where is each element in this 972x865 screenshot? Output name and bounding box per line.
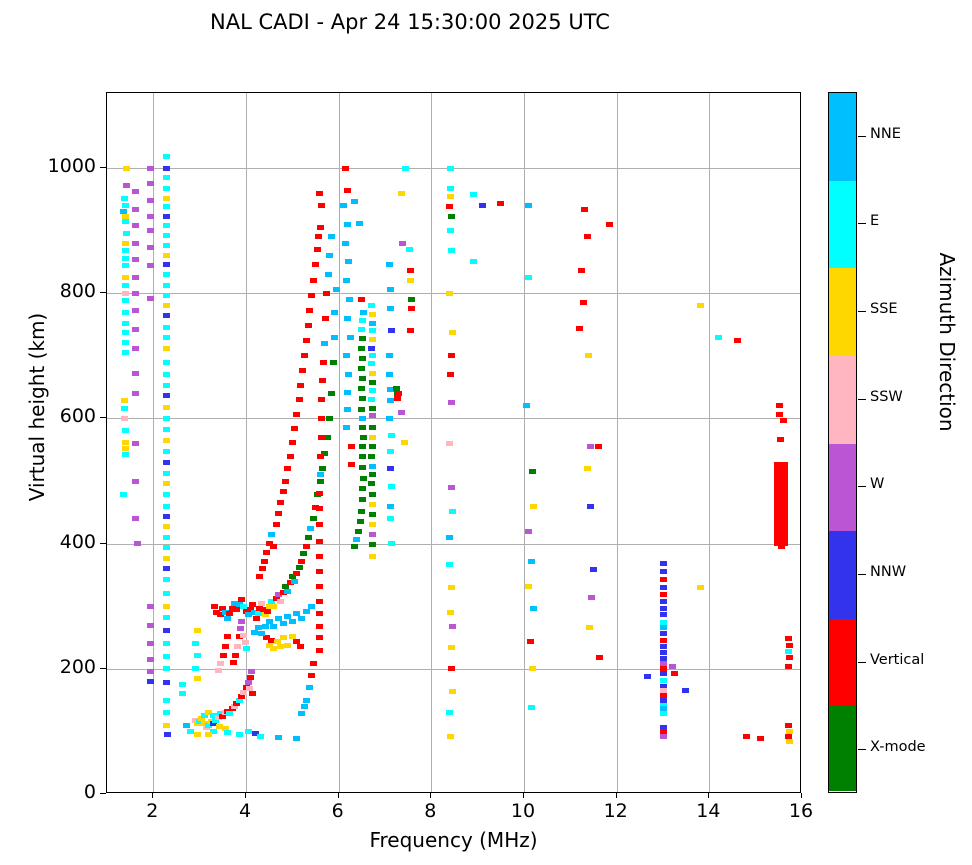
echo-marker [293,412,300,417]
echo-marker [359,376,366,381]
echo-marker [301,704,308,709]
echo-marker [587,504,594,509]
echo-marker [194,653,201,658]
echo-marker [399,241,406,246]
echo-marker [359,318,366,323]
colorbar-segment-sse [829,268,856,356]
echo-marker [245,680,252,685]
echo-marker [132,327,139,332]
echo-marker [386,262,393,267]
echo-marker [319,378,326,383]
x-axis-label: Frequency (MHz) [106,828,801,852]
echo-marker [757,736,764,741]
echo-marker [122,263,129,268]
echo-marker [470,192,477,197]
echo-marker [407,328,414,333]
echo-marker [314,247,321,252]
echo-marker [270,604,277,609]
echo-marker [248,669,255,674]
echo-marker [330,360,337,365]
echo-marker [134,541,141,546]
echo-marker [528,705,535,710]
echo-marker [530,606,537,611]
echo-marker [353,537,360,542]
echo-marker [398,191,405,196]
echo-marker [369,413,376,418]
echo-marker [590,567,597,572]
echo-marker [306,308,313,313]
echo-marker [238,619,245,624]
echo-marker [163,680,170,685]
echo-marker [318,416,325,421]
echo-marker [163,313,170,318]
echo-marker [122,241,129,246]
echo-marker [132,207,139,212]
echo-marker [447,166,454,171]
echo-marker [163,262,170,267]
echo-marker [786,739,793,744]
echo-marker [449,624,456,629]
echo-marker [293,736,300,741]
echo-marker [587,444,594,449]
echo-marker [369,444,376,449]
echo-marker [287,454,294,459]
echo-marker [297,383,304,388]
echo-marker [408,306,415,311]
page-title: NAL CADI - Apr 24 15:30:00 2025 UTC [0,10,820,34]
echo-marker [660,631,667,636]
echo-marker [163,393,170,398]
echo-marker [343,425,350,430]
echo-marker [369,353,376,358]
echo-marker [697,585,704,590]
echo-marker [251,630,258,635]
colorbar-tick [858,486,866,487]
echo-marker [275,511,282,516]
colorbar-tick [858,223,866,224]
echo-marker [192,666,199,671]
echo-marker [346,297,353,302]
echo-marker [163,243,170,248]
echo-marker [147,198,154,203]
echo-marker [194,628,201,633]
echo-marker [297,644,304,649]
echo-marker [284,643,291,648]
echo-marker [449,330,456,335]
echo-marker [258,601,265,606]
echo-marker [345,259,352,264]
echo-marker [310,661,317,666]
echo-marker [358,386,365,391]
echo-marker [122,446,129,451]
echo-marker [368,303,375,308]
echo-marker [163,383,170,388]
echo-marker [257,734,264,739]
echo-marker [386,416,393,421]
echo-marker [368,361,375,366]
colorbar-segment-nne [829,93,856,181]
echo-marker [316,191,323,196]
echo-marker [369,502,376,507]
y-tick-label: 1000 [34,155,96,177]
echo-marker [163,416,170,421]
colorbar-segment-w [829,444,856,532]
echo-marker [785,664,792,669]
echo-marker [777,437,784,442]
echo-marker [123,231,130,236]
colorbar-label-sse: SSE [870,301,898,317]
echo-marker [122,248,129,253]
echo-marker [163,591,170,596]
echo-marker [238,694,245,699]
echo-marker [448,353,455,358]
echo-marker [261,559,268,564]
echo-marker [331,335,338,340]
echo-marker [360,476,367,481]
echo-marker [318,397,325,402]
echo-marker [408,297,415,302]
plot-area [106,92,801,793]
echo-marker [122,428,129,433]
echo-marker [147,214,154,219]
echo-marker [355,529,362,534]
echo-marker [333,287,340,292]
colorbar-label-e: E [870,213,879,229]
echo-marker [407,278,414,283]
echo-marker [194,676,201,681]
echo-marker [325,272,332,277]
echo-marker [448,666,455,671]
echo-marker [369,380,376,385]
echo-marker [351,544,358,549]
echo-marker [205,732,212,737]
echo-marker [132,479,139,484]
echo-marker [359,396,366,401]
echo-marker [147,263,154,268]
echo-marker [132,516,139,521]
echo-marker [163,535,170,540]
echo-marker [369,312,376,317]
echo-marker [359,486,366,491]
echo-marker [401,440,408,445]
x-tick-label: 16 [771,800,831,822]
echo-marker [163,303,170,308]
echo-marker [358,297,365,302]
echo-marker [249,691,256,696]
echo-marker [163,545,170,550]
echo-marker [523,403,530,408]
y-tick-mark [100,417,106,418]
echo-marker [121,196,128,201]
echo-marker [121,406,128,411]
echo-marker [298,559,305,564]
echo-marker [308,604,315,609]
echo-marker [164,732,171,737]
echo-marker [163,615,170,620]
echo-marker [595,444,602,449]
echo-marker [388,541,395,546]
echo-marker [360,310,367,315]
echo-marker [682,688,689,693]
echo-marker [660,585,667,590]
echo-marker [147,657,154,662]
echo-marker [163,514,170,519]
echo-marker [163,427,170,432]
echo-marker [660,644,667,649]
echo-marker [264,609,271,614]
echo-marker [132,223,139,228]
colorbar [828,92,857,793]
y-axis-label: Virtual height (km) [25,277,49,537]
echo-marker [147,166,154,171]
echo-marker [258,631,265,636]
echo-marker [280,489,287,494]
echo-marker [368,397,375,402]
echo-marker [268,532,275,537]
echo-marker [369,532,376,537]
echo-marker [340,203,347,208]
echo-marker [344,188,351,193]
echo-marker [147,228,154,233]
echo-marker [345,372,352,377]
echo-marker [298,616,305,621]
echo-marker [358,327,365,332]
echo-marker [312,262,319,267]
echo-marker [359,465,366,470]
echo-marker [236,732,243,737]
echo-marker [163,233,170,238]
ionogram-figure: NAL CADI - Apr 24 15:30:00 2025 UTC 2468… [0,0,972,865]
echo-marker [660,606,667,611]
echo-marker [447,194,454,199]
echo-marker [356,221,363,226]
echo-marker [448,485,455,490]
echo-marker [306,685,313,690]
colorbar-label-vertical: Vertical [870,652,924,668]
echo-marker [446,562,453,567]
echo-marker [217,661,224,666]
echo-marker [387,306,394,311]
echo-marker [369,512,376,517]
echo-marker [406,247,413,252]
colorbar-segment-vertical [829,619,856,707]
echo-marker [580,300,587,305]
echo-marker [360,435,367,440]
colorbar-label-w: W [870,476,884,492]
echo-marker [317,225,324,230]
echo-marker [446,710,453,715]
echo-marker [660,678,667,683]
echo-marker [351,199,358,204]
echo-marker [660,599,667,604]
echo-marker [192,641,199,646]
echo-marker [369,425,376,430]
y-tick-label: 0 [34,781,96,803]
echo-marker [243,646,250,651]
echo-marker [242,640,249,645]
echo-marker [163,196,170,201]
echo-marker [358,407,365,412]
colorbar-label-nnw: NNW [870,564,906,580]
echo-marker [232,653,239,658]
echo-marker [368,481,375,486]
echo-marker [369,472,376,477]
echo-marker [163,577,170,582]
echo-marker [342,166,349,171]
echo-marker [660,592,667,597]
echo-marker [344,407,351,412]
echo-marker [343,353,350,358]
echo-marker [303,609,310,614]
x-tick-label: 2 [122,800,182,822]
echo-marker [316,584,323,589]
echo-marker [581,207,588,212]
echo-marker [163,666,170,671]
echo-marker [147,679,154,684]
echo-marker [238,597,245,602]
echo-marker [660,577,667,582]
echo-marker [660,711,667,716]
echo-marker [291,426,298,431]
echo-marker [386,372,393,377]
echo-marker [122,298,129,303]
echo-marker [255,625,262,630]
echo-marker [369,388,376,393]
echo-marker [296,565,303,570]
echo-marker [776,412,783,417]
echo-marker [163,604,170,609]
echo-marker [122,291,129,296]
echo-marker [316,569,323,574]
echo-marker [163,223,170,228]
echo-marker [448,214,455,219]
y-tick-mark [100,543,106,544]
echo-marker [237,626,244,631]
y-tick-mark [100,167,106,168]
echo-marker [280,621,287,626]
colorbar-tick [858,574,866,575]
x-tick-mark [523,793,524,798]
y-tick-mark [100,793,106,794]
echo-marker [132,308,139,313]
echo-marker [163,654,170,659]
echo-marker [584,466,591,471]
echo-marker [369,464,376,469]
echo-marker [293,571,300,576]
echo-marker [359,425,366,430]
echo-marker [163,346,170,351]
echo-marker [303,698,310,703]
echo-marker [387,516,394,521]
echo-marker [671,671,678,676]
echo-marker [447,186,454,191]
echo-marker [262,624,269,629]
echo-marker [132,241,139,246]
echo-marker [270,646,277,651]
colorbar-segment-ssw [829,356,856,444]
echo-marker [122,310,129,315]
echo-marker [132,291,139,296]
echo-marker [525,529,532,534]
echo-marker [163,449,170,454]
echo-marker [307,526,314,531]
x-tick-label: 4 [215,800,275,822]
colorbar-label-ssw: SSW [870,389,903,405]
colorbar-title: Azimuth Direction [935,212,959,472]
echo-marker [315,234,322,239]
echo-marker [122,203,129,208]
echo-marker [343,278,350,283]
echo-marker [394,396,401,401]
echo-marker [316,599,323,604]
echo-marker [303,544,310,549]
echo-marker [317,472,324,477]
echo-marker [606,222,613,227]
echo-marker [132,257,139,262]
echo-marker [277,500,284,505]
echo-marker [289,619,296,624]
echo-marker [786,643,793,648]
y-tick-mark [100,292,106,293]
echo-marker [497,201,504,206]
colorbar-tick [858,749,866,750]
echo-marker [316,554,323,559]
echo-marker [291,579,298,584]
echo-marker [448,585,455,590]
echo-marker [122,440,129,445]
echo-marker [358,366,365,371]
echo-marker [163,335,170,340]
echo-marker [211,604,218,609]
echo-marker [247,675,254,680]
echo-marker [123,183,130,188]
echo-marker [226,611,233,616]
echo-marker [358,346,365,351]
echo-marker [318,203,325,208]
echo-marker [359,336,366,341]
echo-marker [305,535,312,540]
echo-marker [163,524,170,529]
echo-marker [323,291,330,296]
echo-marker [369,554,376,559]
echo-marker [348,444,355,449]
echo-marker [369,542,376,547]
x-tick-label: 14 [678,800,738,822]
echo-marker [163,481,170,486]
echo-marker [786,655,793,660]
echo-marker [588,595,595,600]
echo-marker [277,599,284,604]
colorbar-tick [858,311,866,312]
x-tick-mark [338,793,339,798]
colorbar-segment-x-mode [829,706,856,791]
echo-marker [303,338,310,343]
echo-marker [387,466,394,471]
echo-marker [369,522,376,527]
echo-marker [576,326,583,331]
x-tick-mark [245,793,246,798]
echo-marker [163,471,170,476]
echo-marker [344,390,351,395]
echo-marker [348,462,355,467]
echo-marker [163,360,170,365]
echo-marker [224,616,231,621]
echo-marker [163,283,170,288]
echo-marker [527,639,534,644]
echo-marker [298,711,305,716]
echo-marker [163,492,170,497]
y-tick-mark [100,668,106,669]
